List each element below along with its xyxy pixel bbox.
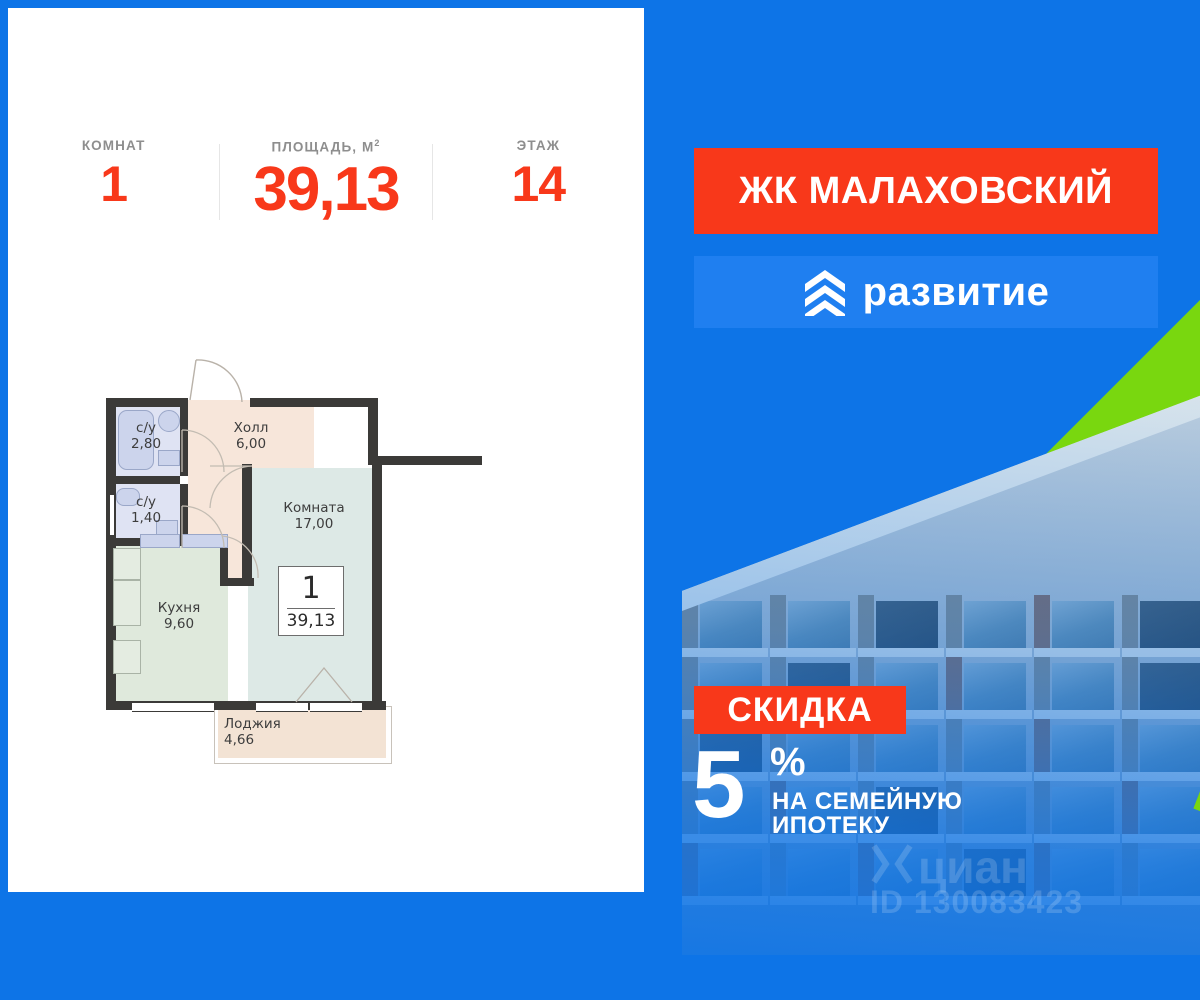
photo-blue-overlay <box>682 395 1200 955</box>
wall-top-left <box>106 398 188 407</box>
developer-name-text: развитие <box>863 270 1050 315</box>
wall-hall-right <box>368 398 378 464</box>
cabinet-icon-1 <box>140 534 180 548</box>
complex-name-banner: ЖК МАЛАХОВСКИЙ <box>694 148 1158 234</box>
building-photo <box>682 395 1200 955</box>
plan-summary-rooms: 1 <box>279 571 343 606</box>
listing-card: КОМНАТ 1 ПЛОЩАДЬ, М2 39,13 ЭТАЖ 14 <box>8 8 644 892</box>
bathroom-large-label: с/у2,80 <box>112 420 180 452</box>
complex-name-text: ЖК МАЛАХОВСКИЙ <box>739 170 1113 213</box>
wall-room-top <box>368 456 482 465</box>
stat-rooms-label: КОМНАТ <box>8 138 219 153</box>
sink-icon-bath1 <box>158 450 180 466</box>
entrance-door-icon <box>184 348 246 404</box>
discount-banner: СКИДКА <box>694 686 906 734</box>
plan-summary-area: 39,13 <box>279 611 343 631</box>
stat-area-label: ПЛОЩАДЬ, М2 <box>220 138 431 155</box>
stats-row: КОМНАТ 1 ПЛОЩАДЬ, М2 39,13 ЭТАЖ 14 <box>8 138 644 248</box>
door-loggia-icon <box>294 664 354 704</box>
hall-label: Холл6,00 <box>192 420 310 452</box>
discount-caption-line2: ИПОТЕКУ <box>772 812 890 840</box>
plan-summary-rule <box>287 608 335 609</box>
door-kitchen-icon <box>218 534 260 582</box>
kitchen-label: Кухня9,60 <box>136 600 222 632</box>
floor-plan: с/у2,80 с/у1,40 Холл6,00 Комната17,00 Ку… <box>96 328 556 798</box>
promo-panel: ЖК МАЛАХОВСКИЙ развитие СКИДКА 5 % НА СЕ… <box>652 0 1200 1000</box>
developer-banner: развитие <box>694 256 1158 328</box>
stat-floor: ЭТАЖ 14 <box>433 138 644 211</box>
door-living-room-icon <box>206 464 254 512</box>
stat-area-value: 39,13 <box>220 159 431 221</box>
stat-rooms: КОМНАТ 1 <box>8 138 219 211</box>
bathroom-small-label: с/у1,40 <box>112 494 180 526</box>
stat-floor-label: ЭТАЖ <box>433 138 644 153</box>
advertisement-card: ЖК МАЛАХОВСКИЙ развитие СКИДКА 5 % НА СЕ… <box>0 0 1200 1000</box>
stat-rooms-value: 1 <box>8 157 219 211</box>
plan-summary-badge: 1 39,13 <box>278 566 344 636</box>
stat-area-unit-sup: 2 <box>374 138 380 148</box>
wall-room-right <box>372 456 382 710</box>
wall-bath-split <box>106 476 180 484</box>
stat-floor-value: 14 <box>433 157 644 211</box>
kitchen-sink-icon <box>113 548 141 580</box>
stat-area: ПЛОЩАДЬ, М2 39,13 <box>220 138 431 221</box>
discount-percent-sign: % <box>770 740 806 785</box>
living-room-label: Комната17,00 <box>254 500 374 532</box>
loggia-label: Лоджия4,66 <box>224 716 324 748</box>
wall-top-hall <box>250 398 378 407</box>
discount-value: 5 <box>692 742 745 828</box>
kitchen-counter-icon <box>113 640 141 674</box>
discount-label-text: СКИДКА <box>727 691 872 730</box>
window-kitchen <box>132 702 214 712</box>
chevrons-up-icon <box>803 268 847 316</box>
